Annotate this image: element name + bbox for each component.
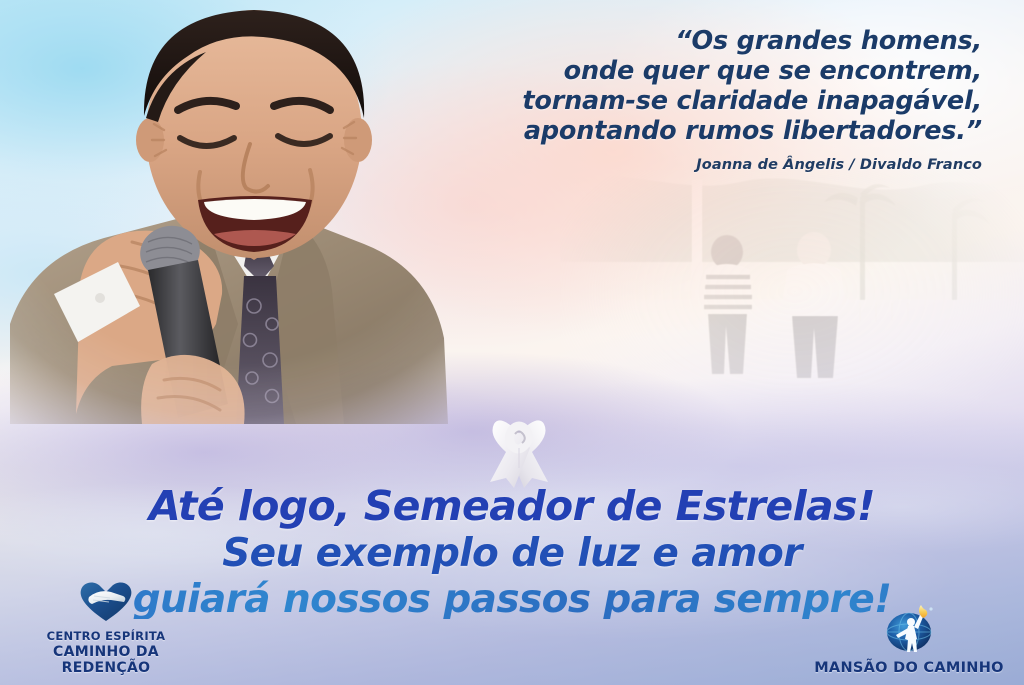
logo-left-line-2: CAMINHO DA REDENÇÃO (8, 644, 204, 677)
logo-mansao-do-caminho: MANSÃO DO CAMINHO (802, 603, 1016, 677)
background-photo (560, 170, 1024, 440)
heart-hand-icon (8, 579, 204, 627)
quote-block: “Os grandes homens, onde quer que se enc… (362, 26, 982, 173)
globe-figure-flame-icon (802, 603, 1016, 657)
logo-centro-espirita: CENTRO ESPÍRITA CAMINHO DA REDENÇÃO (8, 579, 204, 677)
quote-line-2: onde quer que se encontrem, (362, 56, 982, 86)
memorial-poster: “Os grandes homens, onde quer que se enc… (0, 0, 1024, 685)
logo-right-line-1: MANSÃO DO CAMINHO (802, 660, 1016, 677)
mourning-ribbon-icon (482, 408, 556, 490)
headline-line-2: Seu exemplo de luz e amor (0, 534, 1024, 573)
quote-line-1: “Os grandes homens, (362, 26, 982, 56)
quote-attribution: Joanna de Ângelis / Divaldo Franco (362, 157, 982, 173)
quote-line-4: apontando rumos libertadores.” (362, 116, 982, 146)
logo-left-line-1: CENTRO ESPÍRITA (8, 630, 204, 644)
headline-line-1: Até logo, Semeador de Estrelas! (0, 486, 1024, 527)
quote-line-3: tornam-se claridade inapagável, (362, 86, 982, 116)
